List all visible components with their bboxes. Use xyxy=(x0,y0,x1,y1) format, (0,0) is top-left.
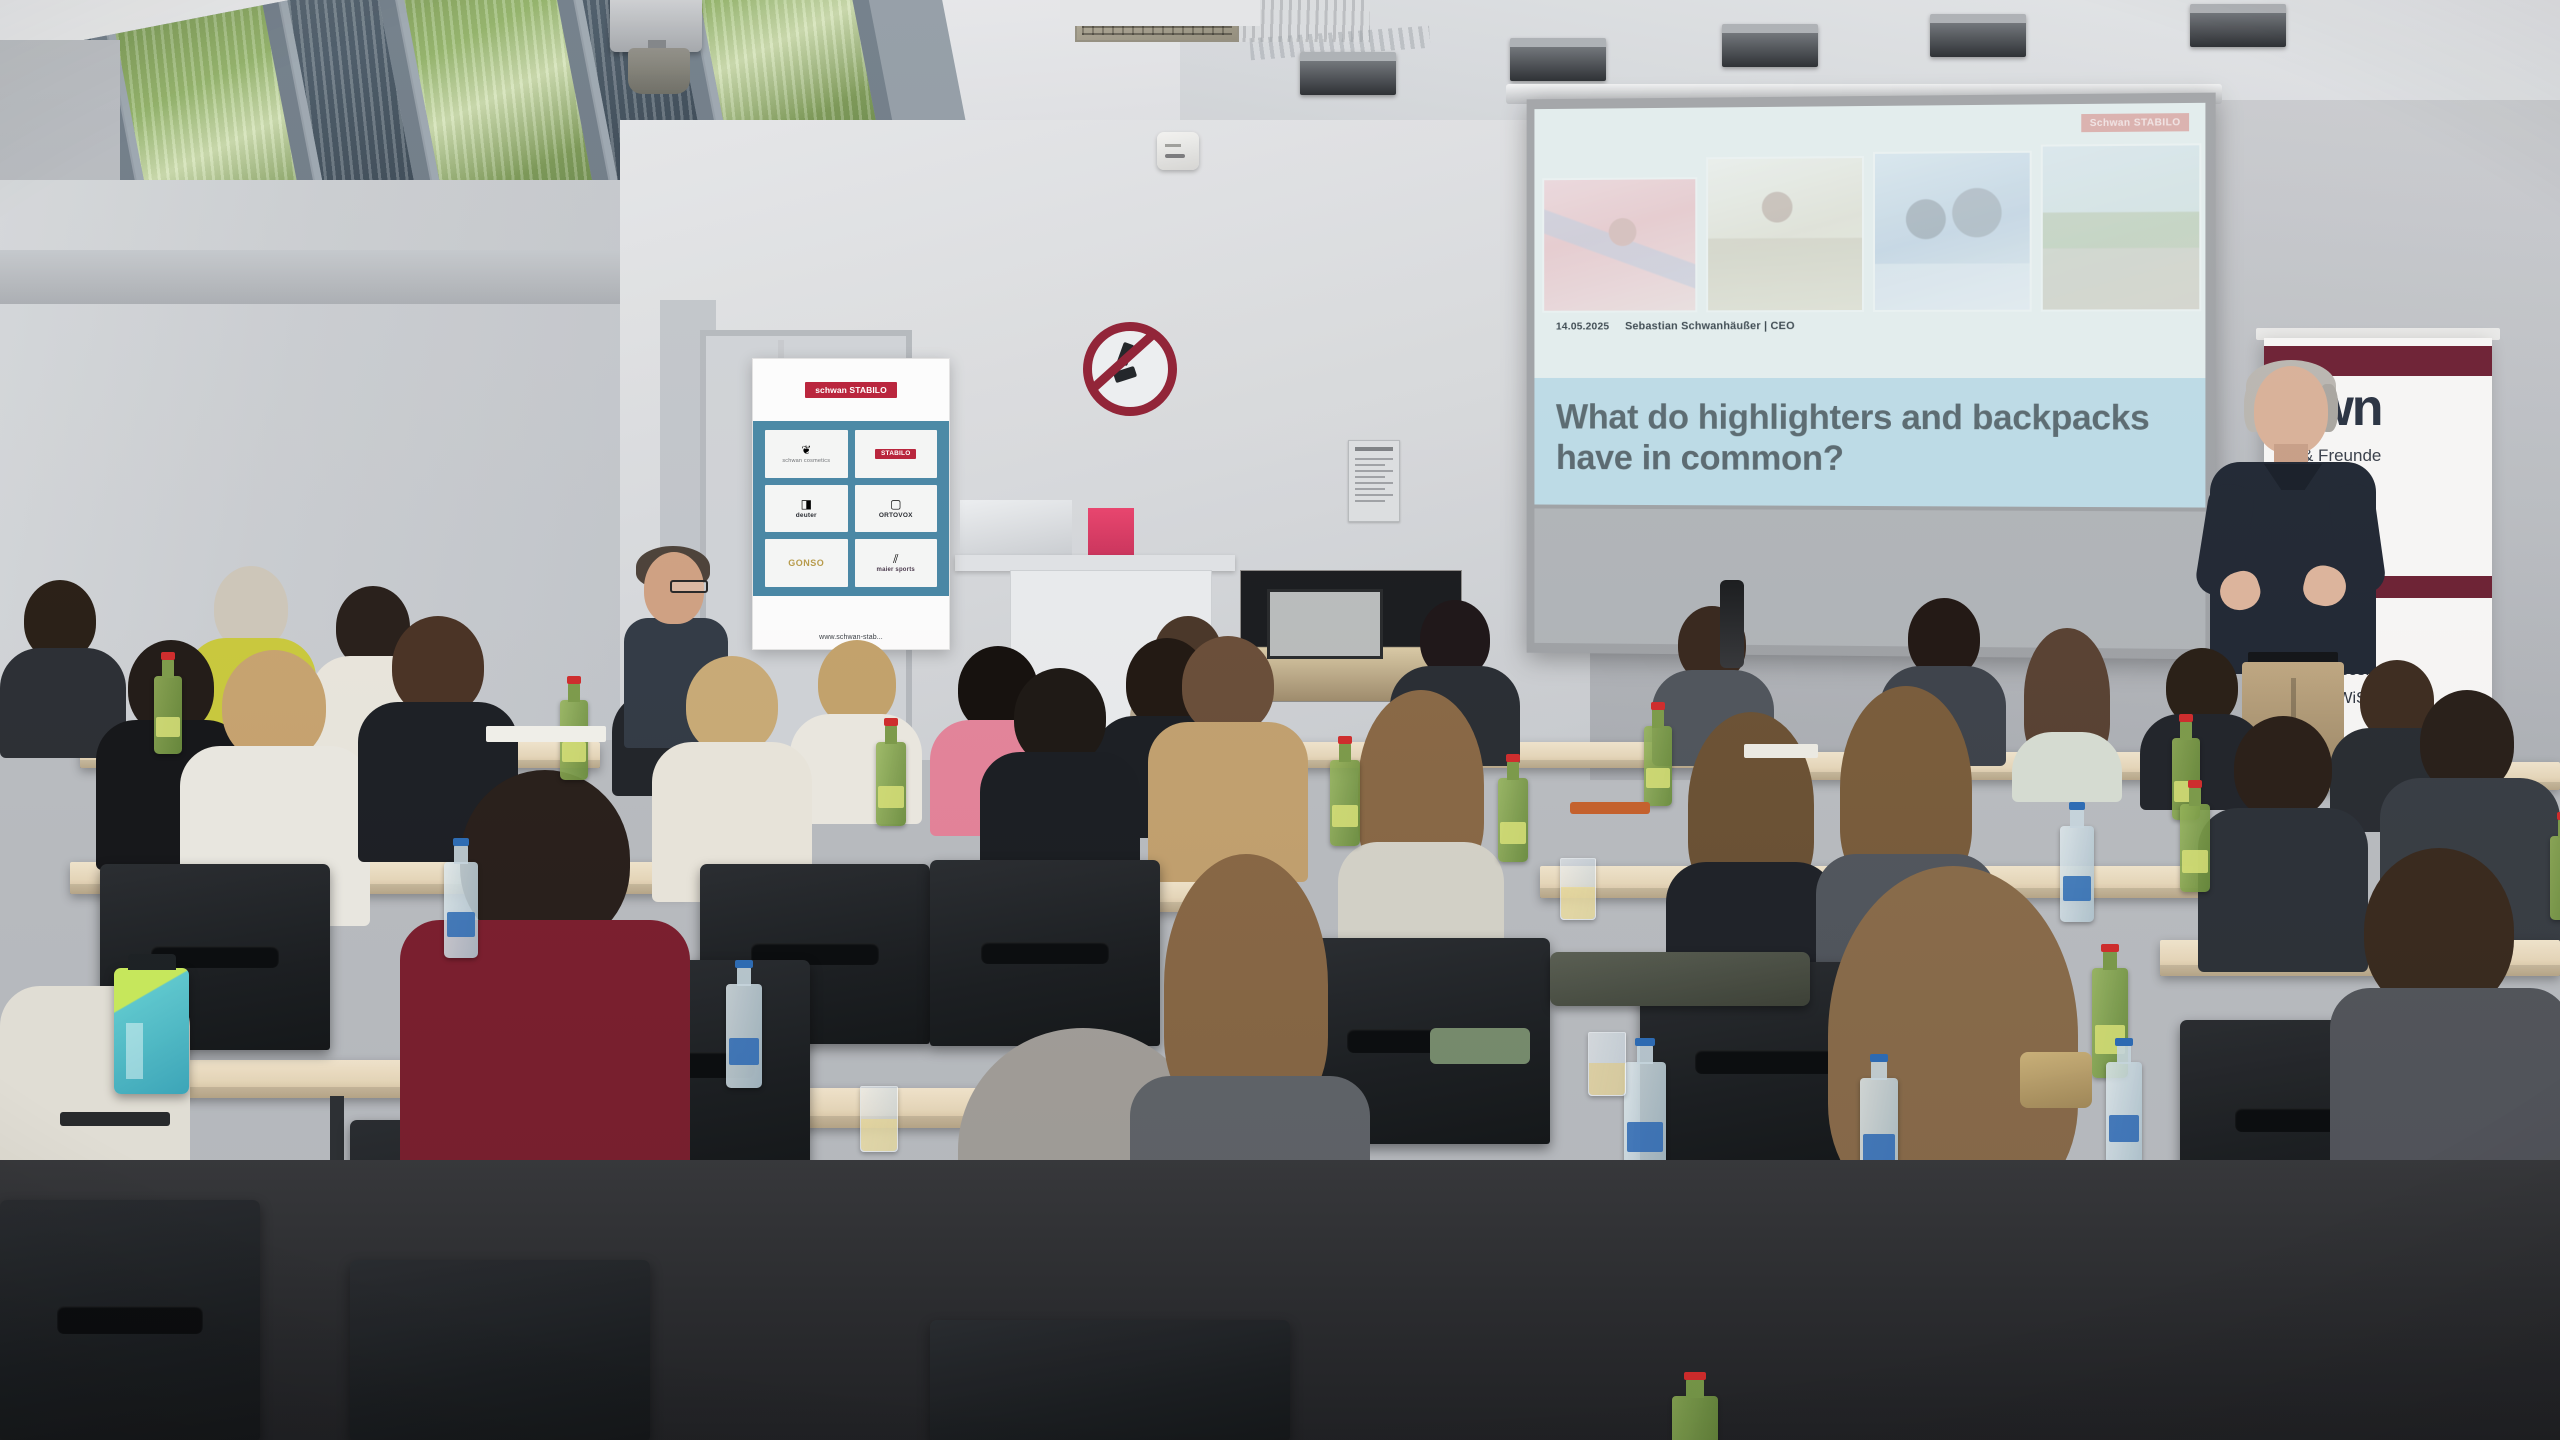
bottle-water-4[interactable] xyxy=(2060,826,2094,922)
brand-label: GONSO xyxy=(788,558,824,568)
bottle-green-foreground[interactable] xyxy=(1672,1396,1718,1440)
chair-foreground-3[interactable] xyxy=(930,1320,1290,1440)
brand-maier-sports: ⫽ maier sports xyxy=(855,539,938,587)
brand-stabilo: STABILO xyxy=(855,430,938,478)
cap-on-desk[interactable] xyxy=(1430,1028,1530,1064)
storage-box-grey xyxy=(960,500,1072,558)
bottle-green-4[interactable] xyxy=(1330,760,1360,846)
chair-foreground-1[interactable] xyxy=(0,1200,260,1440)
bottle-green-6[interactable] xyxy=(1644,726,1672,806)
phone-on-desk[interactable] xyxy=(60,1112,170,1126)
wall-shelf xyxy=(955,555,1235,571)
stabilo-logo: Schwan STABILO xyxy=(2081,113,2189,132)
ceiling-speaker-5 xyxy=(2190,4,2286,47)
slide-thumb-handshake xyxy=(1872,151,2031,312)
slide-speaker: Sebastian Schwanhäußer | CEO xyxy=(1625,320,1795,332)
storage-box-pink xyxy=(1088,508,1134,560)
bottle-green-1[interactable] xyxy=(154,676,182,754)
brand-gonso: GONSO xyxy=(765,539,848,587)
slide-thumbnail-strip xyxy=(1542,147,2201,312)
slide-title-line-1: What do highlighters and backpacks xyxy=(1556,398,2175,440)
rollup-banner-header: schwan STABILO xyxy=(753,359,949,421)
rollup-banner-brand-panel: ❦ schwan cosmetics STABILO ◨ deuter ▢ OR… xyxy=(753,421,949,596)
wall-soffit xyxy=(0,250,700,304)
slide-date: 14.05.2025 xyxy=(1556,321,1609,333)
slide-thumb-woman-pink xyxy=(1542,177,1697,313)
brand-deuter: ◨ deuter xyxy=(765,485,848,533)
bottle-green-8[interactable] xyxy=(2180,804,2210,892)
slide-title-line-2: have in common? xyxy=(1556,438,2175,480)
ortovox-mark-icon: ▢ xyxy=(890,498,901,510)
bottle-green-5[interactable] xyxy=(1498,778,1528,862)
slide-byline: 14.05.2025 Sebastian Schwanhäußer | CEO xyxy=(1556,320,1795,332)
brand-label: ORTOVOX xyxy=(879,512,913,519)
projection-screen: Schwan STABILO 14.05.2025 Sebastian Schw… xyxy=(1527,93,2216,660)
bottle-water-6[interactable] xyxy=(2106,1062,2142,1164)
ceiling-tile xyxy=(1060,0,1260,26)
teal-water-bottle[interactable] xyxy=(114,968,189,1094)
no-phone-sign-icon xyxy=(1083,322,1177,416)
maier-chevron-icon: ⫽ xyxy=(893,553,898,565)
notepad-on-desk[interactable] xyxy=(1744,744,1818,758)
audience-person-m6 xyxy=(1148,636,1308,866)
brand-label: schwan cosmetics xyxy=(782,458,830,464)
microphone-icon[interactable] xyxy=(1720,580,1744,668)
bottle-green-9[interactable] xyxy=(2550,836,2560,920)
brand-ortovox: ▢ ORTOVOX xyxy=(855,485,938,533)
glass-1[interactable] xyxy=(1560,858,1596,920)
deuter-mark-icon: ◨ xyxy=(801,498,812,510)
presentation-slide: Schwan STABILO 14.05.2025 Sebastian Schw… xyxy=(1534,103,2205,508)
ceiling-speaker-4 xyxy=(1930,14,2026,57)
wall-notice-sign xyxy=(1348,440,1400,522)
brand-label: maier sports xyxy=(877,567,915,573)
schwan-stabilo-logo: schwan STABILO xyxy=(805,382,897,398)
straw-bag[interactable] xyxy=(2020,1052,2092,1108)
chair-front-4[interactable] xyxy=(930,860,1160,1046)
swan-icon: ❦ xyxy=(801,444,811,456)
ceiling-speaker-2 xyxy=(1510,38,1606,81)
lecture-hall-photo: Schwan STABILO 14.05.2025 Sebastian Schw… xyxy=(0,0,2560,1440)
bottle-water-2[interactable] xyxy=(726,984,762,1088)
bottle-green-3[interactable] xyxy=(876,742,906,826)
pen-on-desk[interactable] xyxy=(1570,802,1650,814)
bottle-water-1[interactable] xyxy=(444,862,478,958)
presenter-head xyxy=(2254,366,2328,454)
slide-title: What do highlighters and backpacks have … xyxy=(1556,398,2175,481)
chair-foreground-2[interactable] xyxy=(350,1260,650,1440)
ceiling-speaker-1 xyxy=(1300,52,1396,95)
ceiling-speaker-3 xyxy=(1722,24,1818,67)
smoke-detector-icon xyxy=(1157,132,1199,170)
projector-lens xyxy=(628,48,690,94)
brand-schwan-cosmetics: ❦ schwan cosmetics xyxy=(765,430,848,478)
audience-person-f1 xyxy=(400,770,690,1210)
brand-label: deuter xyxy=(796,512,817,519)
slide-thumb-campus xyxy=(2041,143,2202,311)
brand-label: STABILO xyxy=(875,449,916,459)
audience-person-b5 xyxy=(2006,628,2126,778)
backpack-on-desk[interactable] xyxy=(1550,952,1810,1006)
glass-4[interactable] xyxy=(1588,1032,1626,1096)
audience-person-f5 xyxy=(2330,848,2560,1178)
glass-2[interactable] xyxy=(860,1086,898,1152)
slide-thumb-woman-desk xyxy=(1706,156,1863,312)
paper-on-desk[interactable] xyxy=(486,726,606,742)
rollup-banner-left: schwan STABILO ❦ schwan cosmetics STABIL… xyxy=(752,358,950,650)
glasses-icon xyxy=(670,580,708,593)
